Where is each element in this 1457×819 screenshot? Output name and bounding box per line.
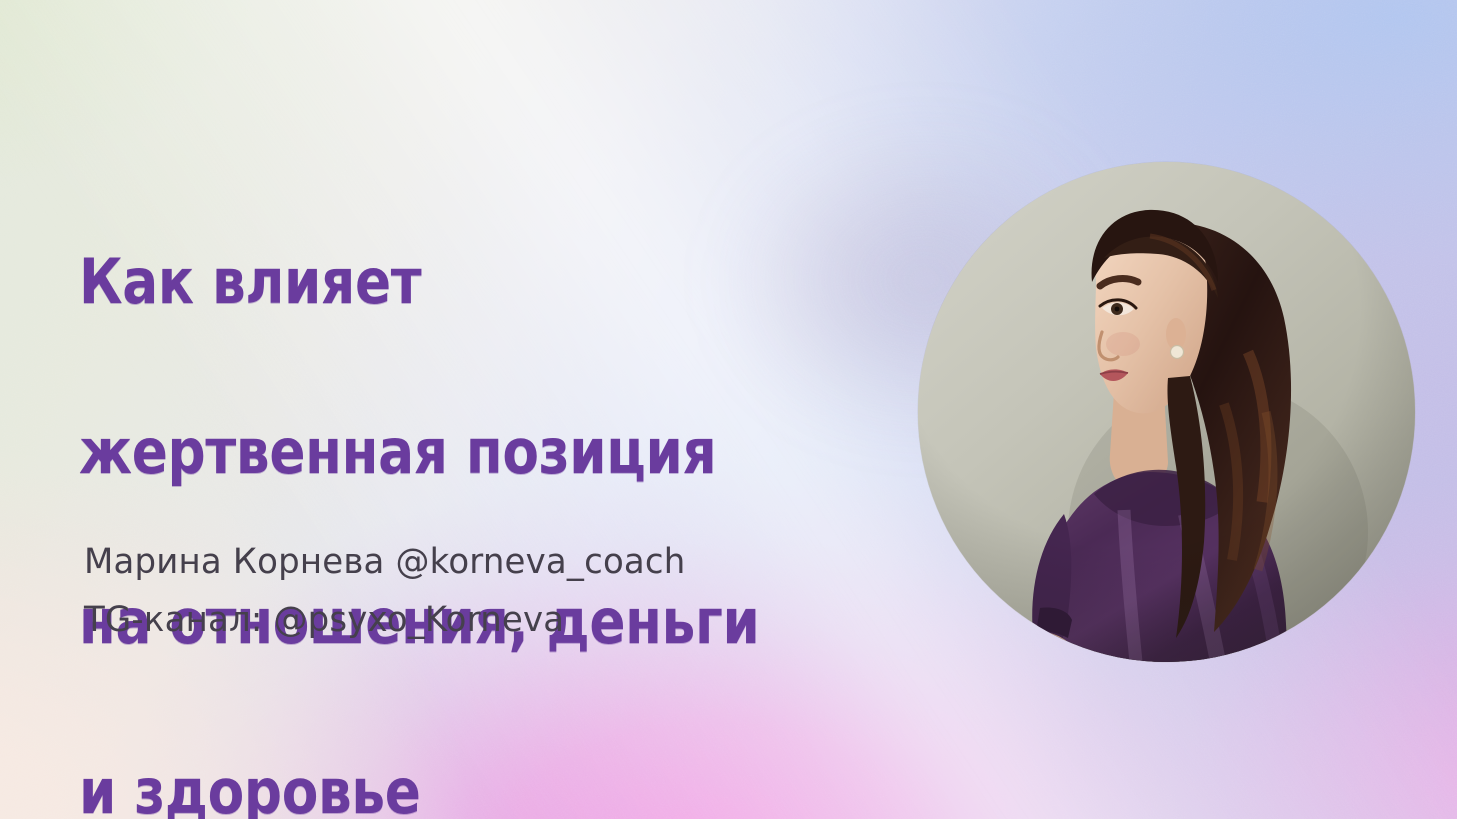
title-line-2: жертвенная позиция <box>79 409 836 494</box>
slide-title: Как влияет жертвенная позиция на отношен… <box>79 154 836 819</box>
portrait-illustration <box>918 162 1415 662</box>
title-line-1: Как влияет <box>79 239 836 324</box>
portrait-vignette <box>918 162 1415 662</box>
title-slide: Как влияет жертвенная позиция на отношен… <box>0 0 1457 819</box>
telegram-channel-line: TG-канал: @psyxo_Korneva <box>84 591 685 649</box>
presenter-name-and-handle: Марина Корнева @korneva_coach <box>84 533 685 591</box>
presenter-portrait-avatar <box>918 162 1415 662</box>
presenter-credits: Марина Корнева @korneva_coach TG-канал: … <box>84 533 685 649</box>
title-line-4: и здоровье <box>79 749 836 819</box>
